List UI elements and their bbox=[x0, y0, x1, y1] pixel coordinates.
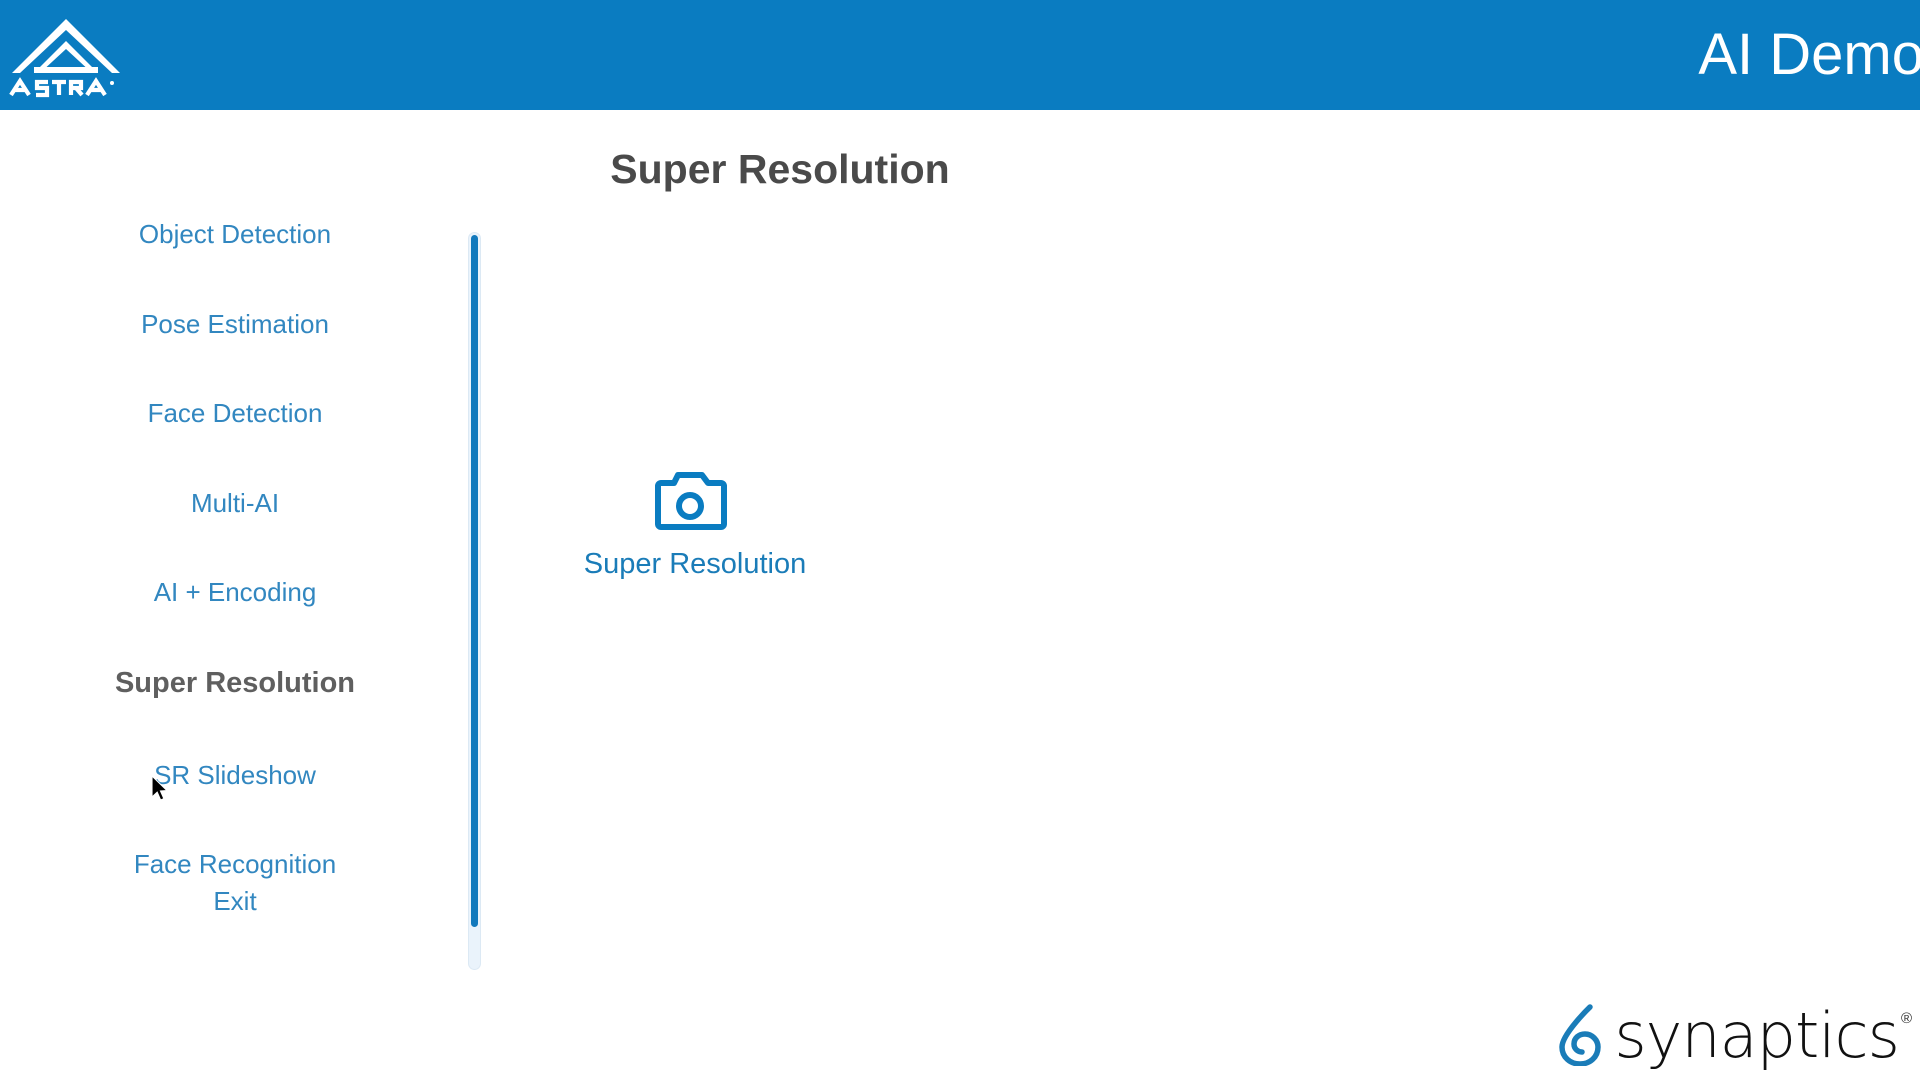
sidebar-nav: Object Detection Pose Estimation Face De… bbox=[0, 220, 478, 1040]
sidebar-item-multi-ai[interactable]: Multi-AI bbox=[0, 489, 470, 518]
sidebar-item-object-detection[interactable]: Object Detection bbox=[0, 220, 470, 249]
sidebar-item-face-detection[interactable]: Face Detection bbox=[0, 399, 470, 428]
sidebar-spacer bbox=[0, 338, 470, 399]
sidebar-item-label: AI + Encoding bbox=[154, 577, 317, 607]
sidebar-item-sr-slideshow[interactable]: SR Slideshow bbox=[0, 761, 470, 790]
sidebar-item-list: Object Detection Pose Estimation Face De… bbox=[0, 220, 470, 916]
sidebar-spacer bbox=[0, 517, 470, 578]
sidebar-spacer bbox=[0, 789, 470, 850]
synaptics-wordmark: synaptics bbox=[1614, 1007, 1899, 1066]
sidebar-item-label: Pose Estimation bbox=[141, 309, 329, 339]
camera-icon bbox=[653, 470, 727, 532]
astra-logo bbox=[0, 11, 126, 99]
sidebar-item-face-recognition[interactable]: Face Recognition bbox=[0, 850, 470, 879]
sidebar-item-label: Face Recognition bbox=[134, 849, 336, 879]
astra-logo-icon bbox=[8, 11, 126, 99]
sidebar-item-exit[interactable]: Exit bbox=[0, 887, 470, 916]
synaptics-droplet-icon bbox=[1556, 1004, 1608, 1066]
sidebar-item-label: Object Detection bbox=[139, 219, 331, 249]
sidebar-spacer bbox=[0, 249, 470, 310]
sidebar-scrollbar[interactable] bbox=[468, 232, 481, 970]
sidebar-spacer bbox=[0, 700, 470, 761]
sidebar-item-label: Super Resolution bbox=[115, 667, 355, 699]
app-header: AI Demo bbox=[0, 0, 1920, 110]
sidebar-item-label: Face Detection bbox=[148, 398, 323, 428]
sidebar-item-super-resolution[interactable]: Super Resolution bbox=[0, 668, 470, 700]
demo-tile-super-resolution[interactable]: Super Resolution bbox=[570, 470, 820, 581]
sidebar-item-label: SR Slideshow bbox=[154, 760, 316, 790]
main-content: Super Resolution bbox=[490, 220, 1920, 1020]
page-title: Super Resolution bbox=[580, 146, 980, 193]
app-title: AI Demo bbox=[1698, 26, 1920, 84]
registered-trademark-mark: ® bbox=[1901, 1010, 1912, 1027]
synaptics-logo: synaptics ® bbox=[1556, 1004, 1912, 1066]
demo-tile-label: Super Resolution bbox=[570, 548, 820, 581]
sidebar-spacer bbox=[0, 607, 470, 668]
sidebar-item-label: Exit bbox=[213, 886, 256, 916]
sidebar-scrollbar-thumb[interactable] bbox=[471, 235, 478, 927]
sidebar-item-label: Multi-AI bbox=[191, 488, 279, 518]
sidebar-item-pose-estimation[interactable]: Pose Estimation bbox=[0, 310, 470, 339]
sidebar-item-ai-encoding[interactable]: AI + Encoding bbox=[0, 578, 470, 607]
sidebar-spacer bbox=[0, 428, 470, 489]
